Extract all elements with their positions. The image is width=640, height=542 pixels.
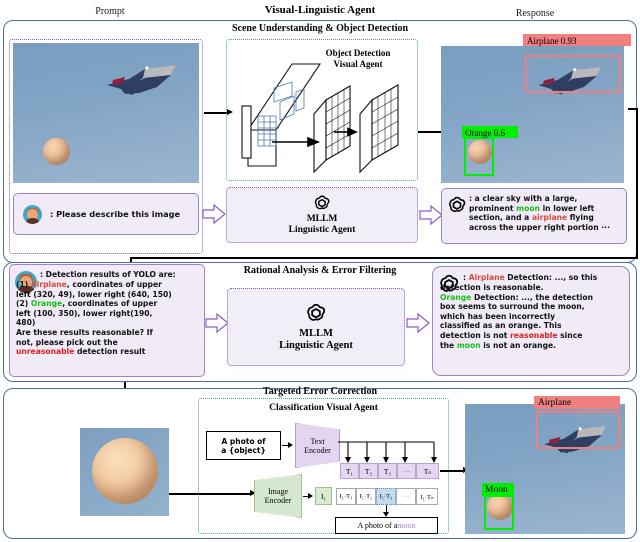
s2u-l7: Are these results reasonable? If: [16, 328, 202, 338]
stage2-mllm-line2: Linguistic Agent: [279, 340, 353, 352]
s2u-l1: : Detection results of YOLO are:: [40, 270, 202, 280]
image-embedding-cell: I₁: [315, 487, 332, 505]
arrow-mllm-to-response: [419, 205, 443, 225]
arrow-tokens-to-output: [440, 470, 465, 472]
input-image: [13, 43, 199, 183]
prompt-template-line2: a {object}: [221, 446, 266, 455]
prompt-column-label: Prompt: [55, 6, 165, 17]
openai-logo-icon-r1: [447, 195, 467, 215]
classification-result-box: A photo of a moon: [335, 517, 438, 534]
stage1-airplane-bbox: [525, 55, 621, 93]
similarity-cell-2: I₁·T₂: [356, 488, 376, 505]
s2u-l4-obj: Orange: [31, 299, 62, 308]
s2r-r8: the moon is not an orange.: [440, 341, 626, 351]
image-encoder: Image Encoder: [254, 474, 302, 518]
stage1-orange-label: Orange 0.6: [462, 126, 518, 138]
s2u-l2-obj: Airplane: [31, 280, 67, 289]
stage1-user-bubble: : Please describe this image: [13, 193, 199, 235]
s2r-r8-obj: moon: [457, 341, 481, 350]
stage1-response-bubble: : a clear sky with a large, prominent mo…: [441, 188, 627, 244]
text-encoder-line2: Encoder: [304, 446, 331, 455]
s2r-r7-post: since: [558, 331, 583, 340]
openai-logo-icon-2: [305, 302, 327, 324]
arrow-stage2-mllm-to-response: [406, 313, 430, 333]
s2r-r3: Orange Detection: ..., the detection: [440, 293, 626, 303]
figure-root: Prompt Visual-Linguistic Agent Response …: [0, 0, 640, 542]
text-encoder-line1: Text: [310, 437, 324, 446]
stage1-response-text: : a clear sky with a large, prominent mo…: [469, 194, 623, 232]
stage1-airplane-label: Airplane 0.93: [523, 34, 631, 46]
stage3-airplane-label: Airplane: [534, 396, 620, 409]
stage1-mllm-agent: MLLM Linguistic Agent: [226, 187, 418, 243]
s2r-r3-post: Detection: ..., the detection: [471, 293, 593, 302]
text-token-ellipsis: ···: [397, 463, 416, 479]
s2u-l9-obj: unreasonable: [16, 347, 74, 356]
s2u-l9: unreasonable detection result: [16, 347, 202, 357]
classification-agent-label: Classification Visual Agent: [198, 403, 449, 413]
stage2-response-text-l1: : Airplane Detection: ..., so this: [463, 273, 627, 283]
text-encoder-fanout: [338, 438, 443, 465]
figure-title: Visual-Linguistic Agent: [175, 4, 465, 16]
cropped-moon-image: [80, 428, 169, 516]
s2r-r1-post: Detection: ..., so this: [505, 273, 598, 282]
cropped-moon-shape: [92, 438, 158, 504]
stage1-mllm-line1: MLLM: [307, 214, 338, 225]
s1r-airplane: airplane: [532, 213, 567, 222]
s2r-r6: classified as an orange. This: [440, 321, 626, 331]
text-encoder: Text Encoder: [295, 423, 340, 468]
s2u-l2-pre: (1): [16, 280, 31, 289]
stage1-orange-bbox: [464, 137, 494, 176]
text-token-2: T₂: [359, 463, 378, 479]
similarity-cell-ellipsis: ···: [396, 488, 416, 505]
similarity-cell-3: I₁·T₃: [376, 488, 396, 505]
similarity-cell-n: I₁·Tₙ: [416, 488, 438, 505]
stage2-response-text-rest: detection is reasonable. Orange Detectio…: [440, 283, 626, 350]
s2r-r3-obj: Orange: [440, 293, 471, 302]
stage3-moon-bbox: [484, 495, 514, 530]
stage1-user-text: : Please describe this image: [50, 210, 192, 220]
stage2-user-bubble: : Detection results of YOLO are: (1) Air…: [9, 264, 205, 377]
arrow-detector-to-result: [418, 131, 442, 133]
s2r-r2: detection is reasonable.: [440, 283, 626, 293]
s2r-r7: detection is not reasonable since: [440, 331, 626, 341]
feedback-line-v1: [636, 108, 638, 258]
moon-shape: [43, 138, 70, 165]
text-token-3: T₃: [378, 463, 397, 479]
prompt-template-line1: A photo of: [221, 437, 265, 446]
arrow-user-to-mllm: [202, 204, 226, 224]
response-column-label: Response: [480, 8, 590, 19]
stage2-user-text: : Detection results of YOLO are:: [40, 270, 202, 280]
stage2-response-bubble: : Airplane Detection: ..., so this detec…: [432, 266, 630, 376]
image-encoder-line2: Encoder: [265, 496, 292, 505]
s2u-l8: not, please pick out the: [16, 338, 202, 348]
image-encoder-line1: Image: [268, 487, 288, 496]
s2u-l9-post: detection result: [74, 347, 145, 356]
arrow-imgenc-to-i1-head: [308, 493, 313, 499]
s2u-l2: (1) Airplane, coordinates of upper: [16, 280, 202, 290]
s1r-moon: moon: [516, 204, 540, 213]
s2u-l4-pre: (2): [16, 299, 31, 308]
s2u-l6: 480): [16, 318, 202, 328]
s2r-r8-pre: the: [440, 341, 457, 350]
s2r-r7-pre: detection is not: [440, 331, 510, 340]
prompt-template-box: A photo of a {object}: [206, 431, 281, 460]
s2u-l4: (2) Orange, coordinates of upper: [16, 299, 202, 309]
stage3-airplane-bbox: [536, 411, 620, 449]
airplane-shape: [99, 63, 179, 99]
stage2-mllm-line1: MLLM: [299, 328, 333, 340]
result-prefix: A photo of a: [357, 521, 397, 530]
s2r-r4: box seems to surround the moon,: [440, 302, 626, 312]
stage2-user-text-rest: (1) Airplane, coordinates of upper left …: [16, 280, 202, 357]
text-token-1: T₁: [340, 463, 359, 479]
arrow-prompt-to-textenc-head: [288, 442, 293, 448]
text-token-n: Tₙ: [416, 463, 439, 479]
s1r-ellipsis: ···: [601, 223, 610, 232]
s2r-r1-obj: Airplane: [469, 273, 505, 282]
result-object: moon: [397, 521, 415, 530]
stage2-mllm-agent: MLLM Linguistic Agent: [227, 288, 405, 366]
detector-network-graphic: [230, 44, 416, 176]
feedback-line-h2: [130, 257, 638, 259]
stage1-title: Scene Understanding & Object Detection: [0, 23, 640, 34]
stage1-mllm-line2: Linguistic Agent: [289, 225, 356, 236]
openai-logo-icon: [313, 194, 331, 212]
s2u-l5: left (100, 350), lower right(190,: [16, 309, 202, 319]
s2u-l4-post: , coordinates of upper: [62, 299, 157, 308]
s2r-r5: which has been incorrectly: [440, 312, 626, 322]
s2r-r7-obj: reasonable: [510, 331, 557, 340]
s2u-l3: left (320, 49), lower right (640, 150): [16, 290, 202, 300]
similarity-cell-1: I₁·T₁: [336, 488, 356, 505]
arrow-stage2-user-to-mllm: [205, 313, 229, 333]
s2r-r8-post: is not an orange.: [481, 341, 556, 350]
arrow-image-to-detector: [204, 112, 228, 114]
s2u-l2-post: , coordinates of upper: [67, 280, 162, 289]
stage3-moon-label: Moon: [482, 483, 514, 496]
user-avatar: [23, 205, 42, 224]
